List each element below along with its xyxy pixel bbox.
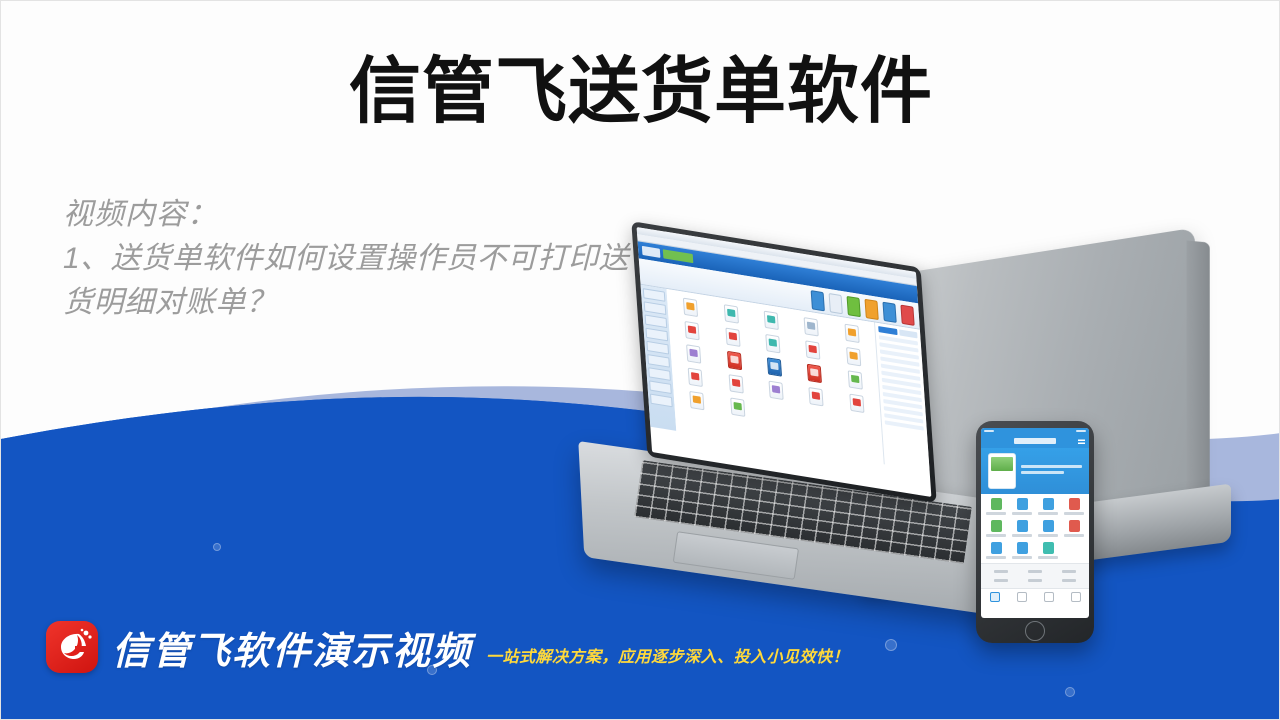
sidebar-item[interactable] bbox=[648, 367, 671, 381]
phone-stats-panel bbox=[981, 563, 1089, 588]
app-grid-icon[interactable] bbox=[846, 347, 861, 366]
toolbar-icon[interactable] bbox=[811, 290, 825, 311]
app-grid-icon[interactable] bbox=[764, 311, 779, 330]
phone-grid-icon[interactable] bbox=[1010, 542, 1034, 559]
phone-home-button[interactable] bbox=[1025, 621, 1045, 641]
phone-grid-icon[interactable] bbox=[1010, 520, 1034, 537]
stat-value bbox=[1062, 570, 1076, 573]
banner-line bbox=[1021, 471, 1064, 474]
app-grid-icon[interactable] bbox=[765, 334, 780, 353]
front-laptop-trackpad bbox=[673, 531, 799, 580]
phone-banner bbox=[981, 448, 1089, 494]
decor-bubble bbox=[213, 543, 221, 551]
app-grid-icon[interactable] bbox=[848, 370, 863, 389]
toolbar-icon[interactable] bbox=[882, 302, 896, 323]
phone-grid-icon[interactable] bbox=[984, 542, 1008, 559]
stats-row bbox=[984, 576, 1086, 585]
back-laptop-keyboard bbox=[1186, 710, 1280, 720]
app-grid-icon[interactable] bbox=[768, 381, 783, 400]
app-grid-icon[interactable] bbox=[688, 368, 703, 387]
app-grid-icon[interactable] bbox=[767, 357, 782, 376]
stats-row bbox=[984, 567, 1086, 576]
phone-bottom-nav bbox=[981, 588, 1089, 605]
page-title: 信管飞送货单软件 bbox=[1, 53, 1280, 131]
banner-phone-icon bbox=[988, 453, 1016, 489]
app-active-tab bbox=[663, 249, 694, 263]
toolbar-icon[interactable] bbox=[864, 299, 878, 320]
app-grid-icon[interactable] bbox=[809, 387, 824, 406]
app-right-panel bbox=[874, 322, 930, 471]
slide-canvas: 信管飞送货单软件 视频内容： 1、送货单软件如何设置操作员不可打印送 货明细对账… bbox=[0, 0, 1280, 720]
sidebar-item[interactable] bbox=[645, 315, 668, 329]
app-grid-icon[interactable] bbox=[806, 340, 821, 359]
front-laptop-screen bbox=[637, 227, 932, 497]
app-grid-icon[interactable] bbox=[685, 321, 700, 340]
sidebar-item[interactable] bbox=[643, 288, 666, 302]
app-grid-icon[interactable] bbox=[807, 364, 822, 383]
phone-screen bbox=[981, 428, 1089, 618]
phone-grid-icon[interactable] bbox=[1062, 520, 1086, 537]
phone-app-title bbox=[1014, 438, 1056, 444]
status-left-icon bbox=[984, 430, 994, 432]
stat-value bbox=[994, 570, 1008, 573]
phone-device bbox=[976, 421, 1094, 643]
phone-grid-icon[interactable] bbox=[1062, 498, 1086, 515]
right-panel-tab[interactable] bbox=[878, 326, 897, 335]
toolbar-icon[interactable] bbox=[847, 296, 861, 317]
phone-grid-icon[interactable] bbox=[1036, 520, 1060, 537]
footer-brand: 信管飞软件演示视频 一站式解决方案，应用逐步深入、投入小见效快！ bbox=[46, 621, 849, 673]
sidebar-item[interactable] bbox=[645, 328, 668, 342]
nav-home-icon[interactable] bbox=[990, 592, 1000, 602]
app-logo-icon bbox=[642, 246, 661, 258]
app-grid-icon[interactable] bbox=[723, 304, 738, 323]
phone-grid-icon[interactable] bbox=[984, 520, 1008, 537]
logo-mark-svg bbox=[46, 621, 98, 673]
nav-profile-icon[interactable] bbox=[1071, 592, 1081, 602]
nav-list-icon[interactable] bbox=[1017, 592, 1027, 602]
xinguanfei-bird-logo-icon bbox=[46, 621, 98, 673]
hamburger-menu-icon[interactable] bbox=[1078, 438, 1085, 444]
app-grid-icon[interactable] bbox=[804, 317, 819, 336]
sidebar-item[interactable] bbox=[646, 341, 669, 355]
phone-grid-icon[interactable] bbox=[1036, 542, 1060, 559]
stat-value bbox=[1062, 579, 1076, 582]
app-grid-icon[interactable] bbox=[730, 397, 745, 416]
sidebar-item[interactable] bbox=[650, 394, 673, 408]
banner-text bbox=[1021, 465, 1082, 477]
front-laptop bbox=[581, 246, 1011, 646]
sidebar-item[interactable] bbox=[647, 354, 670, 368]
phone-app-titlebar bbox=[981, 434, 1089, 448]
brand-tagline: 一站式解决方案，应用逐步深入、投入小见效快！ bbox=[486, 648, 849, 673]
app-grid-icon[interactable] bbox=[725, 327, 740, 346]
stat-value bbox=[1028, 570, 1042, 573]
app-grid-icon[interactable] bbox=[728, 374, 743, 393]
banner-line bbox=[1021, 465, 1082, 468]
phone-grid-icon[interactable] bbox=[984, 498, 1008, 515]
sidebar-item[interactable] bbox=[644, 301, 667, 315]
decor-bubble bbox=[1065, 687, 1075, 697]
status-right-icon bbox=[1076, 430, 1086, 432]
sidebar-item[interactable] bbox=[649, 380, 672, 394]
stat-value bbox=[1028, 579, 1042, 582]
app-grid-icon[interactable] bbox=[727, 351, 742, 370]
app-grid-icon[interactable] bbox=[849, 394, 864, 413]
phone-grid-icon[interactable] bbox=[1036, 498, 1060, 515]
device-showcase bbox=[561, 236, 1280, 656]
app-grid-icon[interactable] bbox=[686, 344, 701, 363]
nav-chart-icon[interactable] bbox=[1044, 592, 1054, 602]
right-panel-tab[interactable] bbox=[899, 329, 918, 338]
app-grid-icon[interactable] bbox=[683, 298, 698, 317]
app-grid-icon[interactable] bbox=[689, 391, 704, 410]
stat-value bbox=[994, 579, 1008, 582]
phone-icon-grid bbox=[981, 494, 1089, 563]
toolbar-icon[interactable] bbox=[900, 305, 914, 326]
app-grid-icon[interactable] bbox=[844, 324, 859, 343]
front-laptop-lid bbox=[631, 221, 936, 503]
toolbar-icon[interactable] bbox=[829, 293, 843, 314]
brand-name: 信管飞软件演示视频 bbox=[112, 631, 472, 673]
phone-grid-icon[interactable] bbox=[1010, 498, 1034, 515]
